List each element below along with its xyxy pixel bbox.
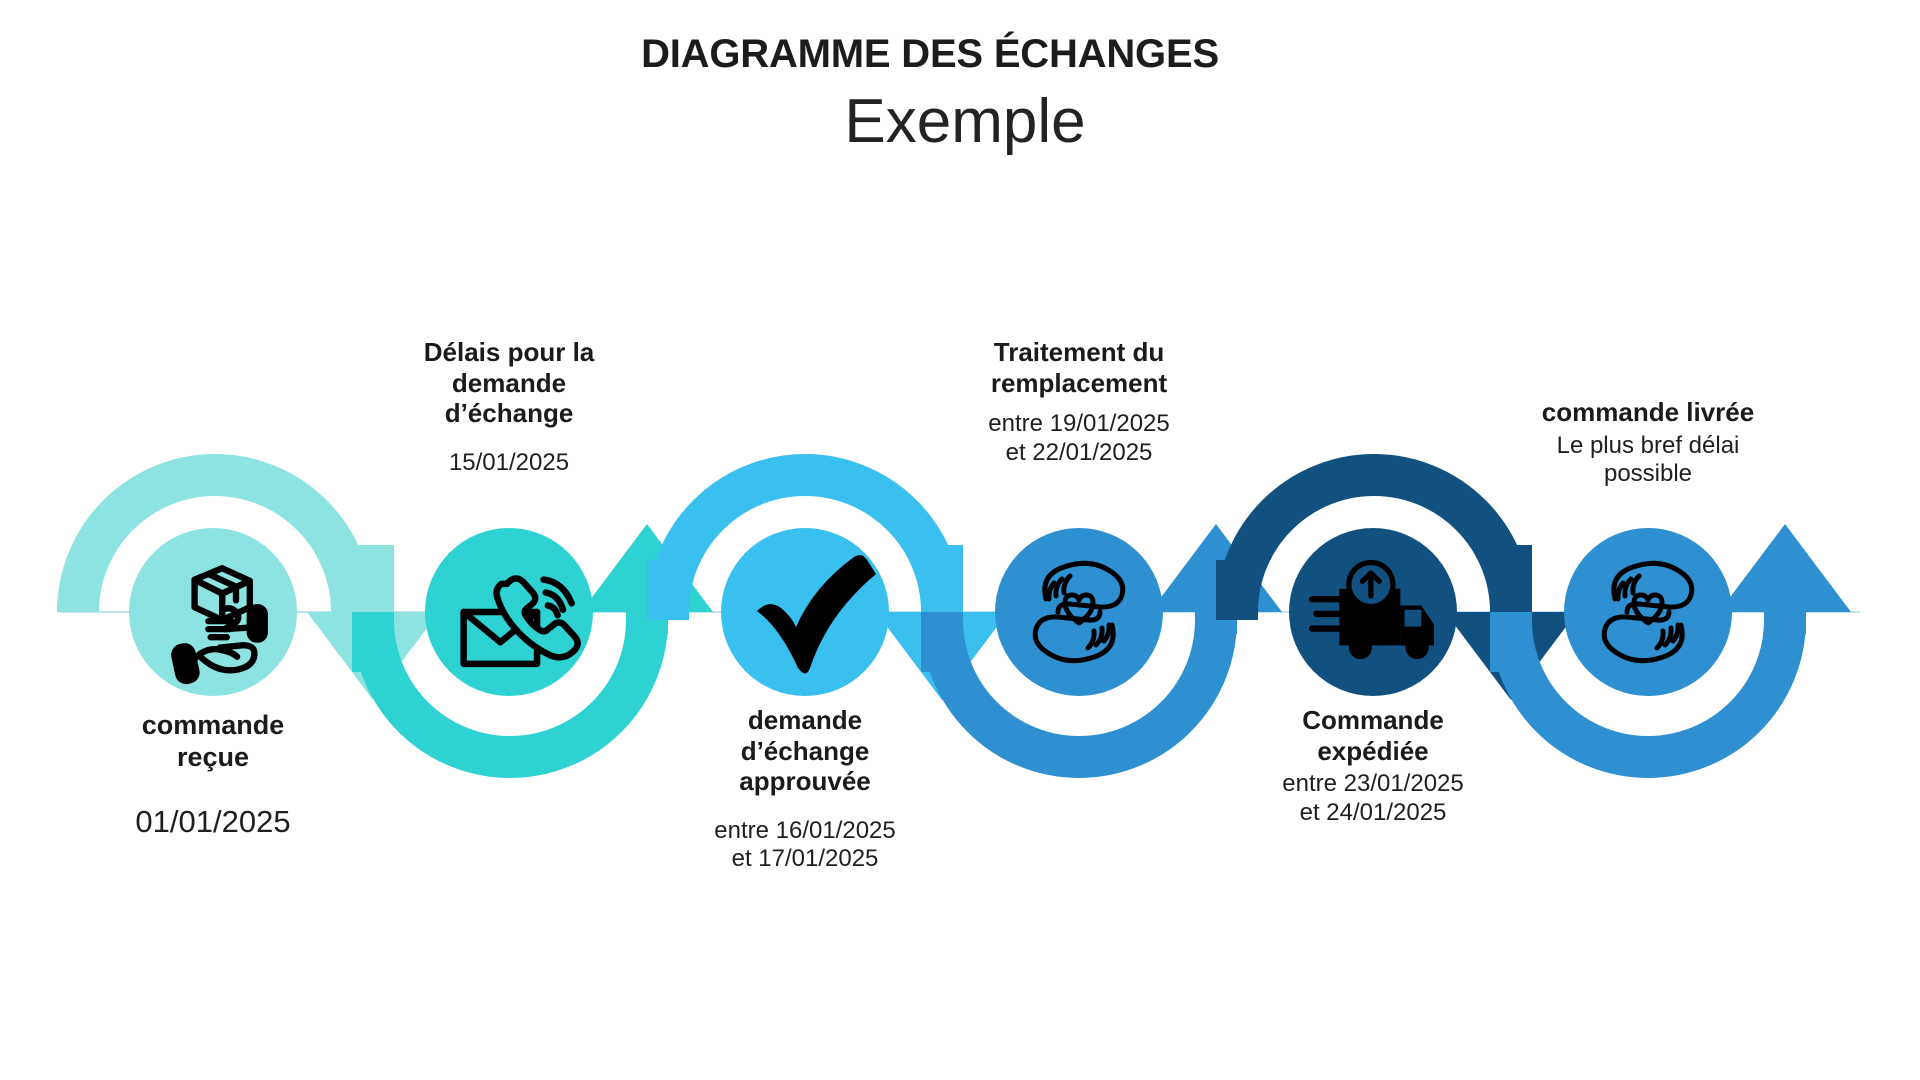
step-label-1: commande reçue 01/01/2025 [63, 710, 363, 840]
step-label-5: Commande expédiée entre 23/01/2025 et 24… [1223, 705, 1523, 827]
step-title-2: Délais pour la demande d’échange [359, 337, 659, 429]
step-title-5: Commande expédiée [1223, 705, 1523, 766]
step-title-6: commande livrée [1498, 397, 1798, 428]
step-node-4[interactable] [995, 528, 1163, 696]
arc-stem-3a [647, 560, 689, 620]
step-date-3: entre 16/01/2025 et 17/01/2025 [655, 817, 955, 874]
step-date-5: entre 23/01/2025 et 24/01/2025 [1223, 770, 1523, 827]
step-title-1: commande reçue [63, 710, 363, 774]
arc-stem-6a [1490, 612, 1532, 672]
step-date-2: 15/01/2025 [359, 449, 659, 477]
step-title-4: Traitement du remplacement [929, 337, 1229, 398]
step-circle-6[interactable] [1564, 528, 1732, 696]
arc-stem-1 [352, 545, 394, 615]
step-date-1: 01/01/2025 [63, 804, 363, 841]
infographic-root: DIAGRAMME DES ÉCHANGES Exemple [0, 0, 1920, 1080]
step-node-6[interactable] [1564, 528, 1732, 696]
step-label-3: demande d’échange approuvée entre 16/01/… [655, 705, 955, 874]
step-label-2: Délais pour la demande d’échange 15/01/2… [359, 337, 659, 477]
exchange-flow-diagram [0, 0, 1920, 1080]
step-node-1[interactable] [129, 528, 297, 696]
step-node-5[interactable] [1289, 528, 1457, 696]
step-date-4: entre 19/01/2025 et 22/01/2025 [929, 410, 1229, 467]
arrow-up-6 [1719, 524, 1851, 634]
step-node-3[interactable] [721, 528, 889, 696]
arc-stem-2a [352, 612, 394, 672]
flow-svg [0, 0, 1920, 1080]
step-circle-1[interactable] [129, 528, 297, 696]
arc-stem-5a [1216, 560, 1258, 620]
step-date-6: Le plus bref délai possible [1498, 432, 1798, 489]
step-circle-4[interactable] [995, 528, 1163, 696]
step-node-2[interactable] [425, 528, 593, 696]
step-label-6: commande livrée Le plus bref délai possi… [1498, 397, 1798, 488]
step-title-3: demande d’échange approuvée [655, 705, 955, 797]
step-label-4: Traitement du remplacement entre 19/01/2… [929, 337, 1229, 467]
arc-stem-4a [921, 612, 963, 672]
